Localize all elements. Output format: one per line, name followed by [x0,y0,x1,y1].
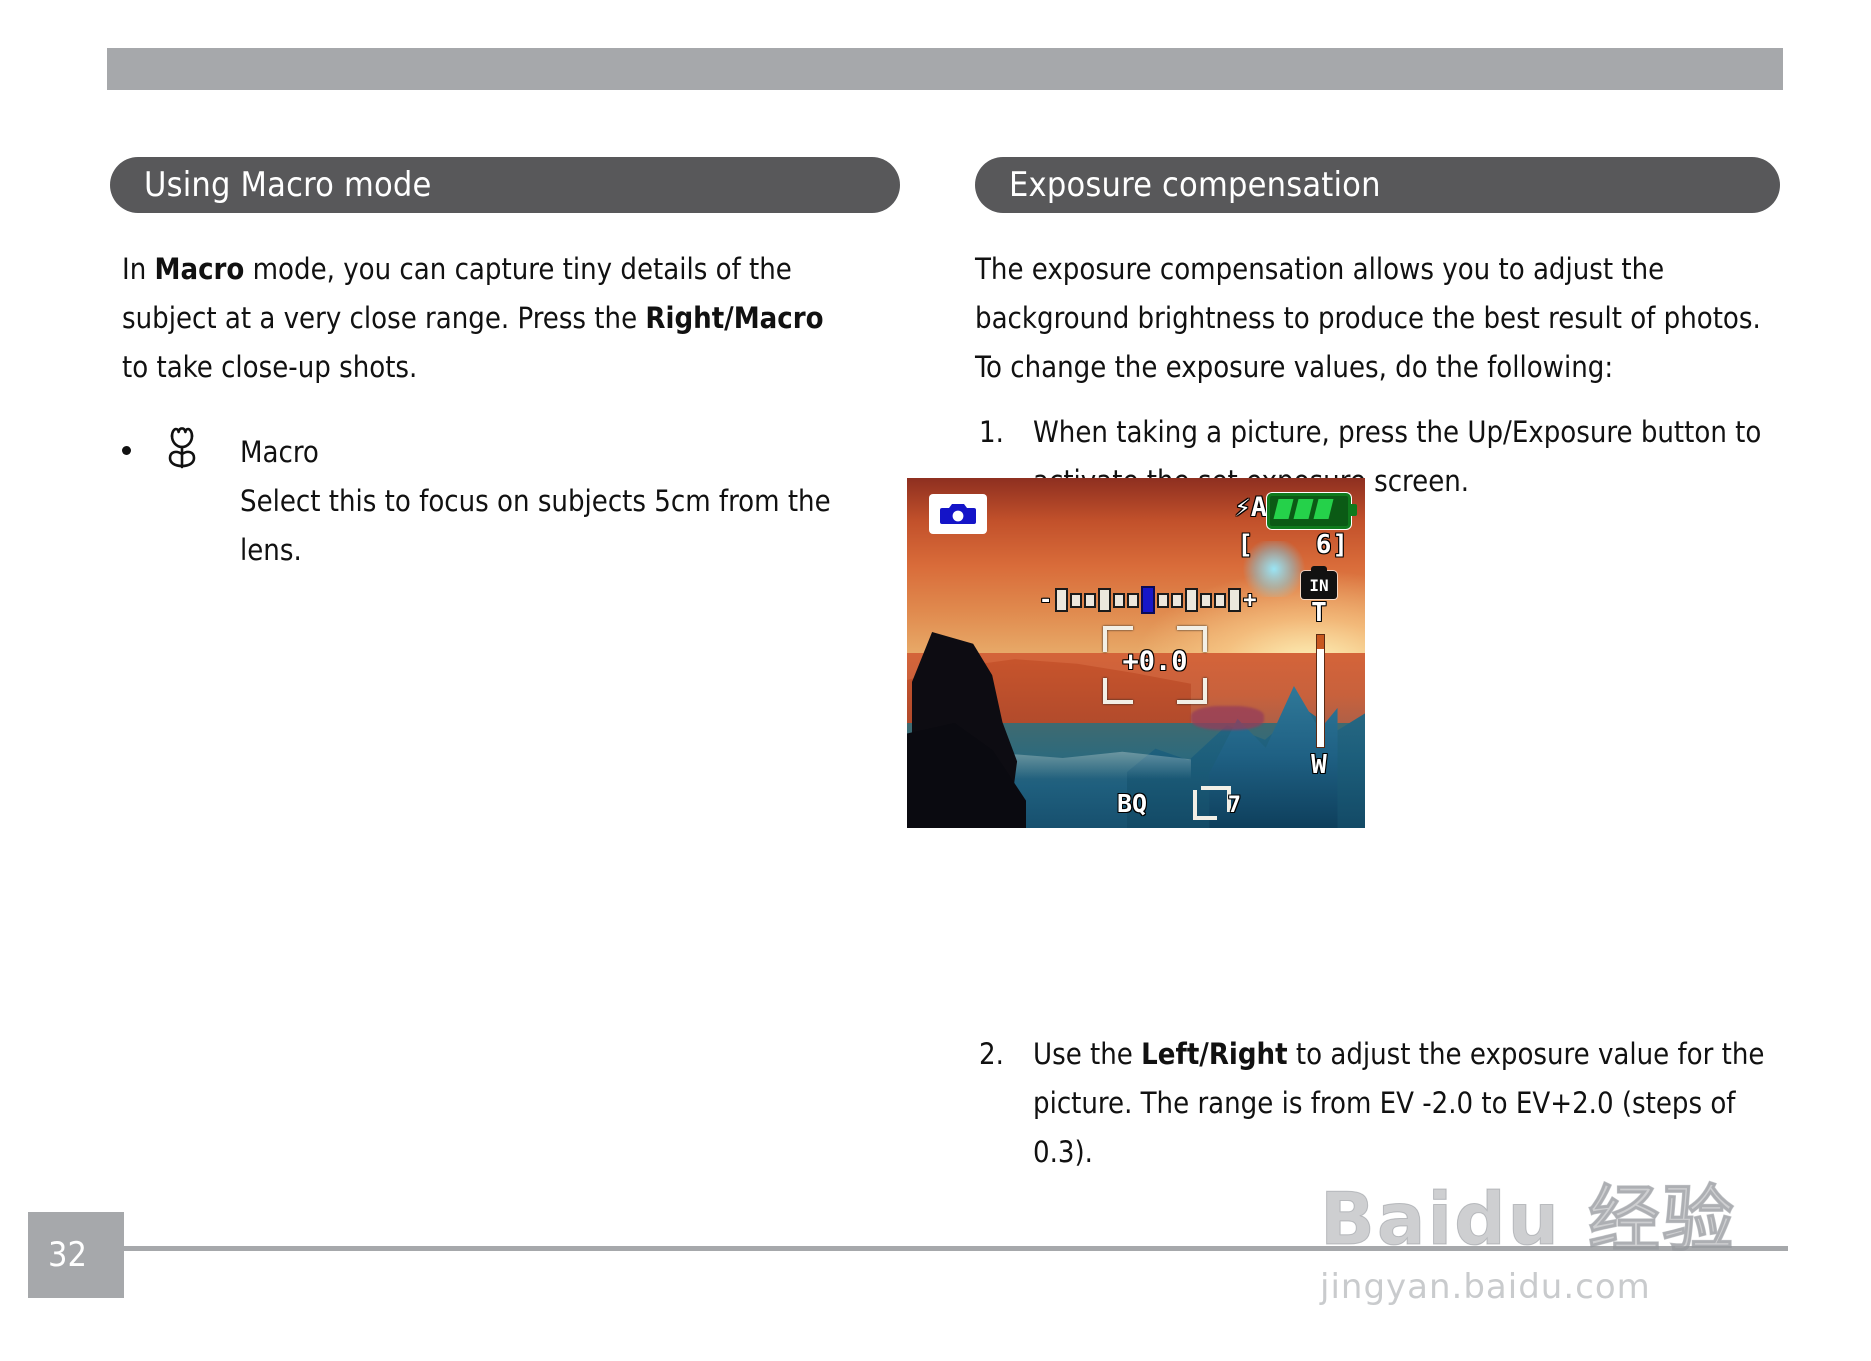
section-heading-macro-label: Using Macro mode [110,165,432,205]
ev-tick-current [1141,586,1155,614]
macro-bullet-label: Macro [240,428,842,477]
ev-tick [1214,593,1226,608]
ev-tick [1098,588,1111,612]
exposure-value-readout: +0.0 [1103,646,1207,677]
macro-intro-bold2: Right/Macro [645,301,823,335]
ev-tick [1084,593,1096,608]
ev-tick [1127,593,1139,608]
section-heading-exposure-label: Exposure compensation [975,165,1381,205]
exposure-steps-list-2: 2. Use the Left/Right to adjust the expo… [975,1030,1780,1177]
macro-bullet-item: Macro Select this to focus on subjects 5… [122,428,842,575]
camera-mode-icon [929,494,987,534]
zoom-bar [1316,634,1325,748]
header-band [107,48,1783,90]
watermark-sub-text: jingyan.baidu.com [1320,1267,1840,1307]
bullet-dot [122,446,131,455]
flash-auto-icon: ⚡A [1234,492,1267,523]
section-heading-exposure: Exposure compensation [975,157,1780,213]
step-2-bold: Left/Right [1141,1037,1287,1071]
zoom-tele-label: T [1299,598,1339,628]
macro-intro-part1: In [122,252,155,286]
ev-tick [1157,593,1169,608]
ev-tick [1113,593,1125,608]
zoom-slider-indicator: T W [1299,604,1339,772]
footer-rule [28,1246,1788,1251]
ev-tick [1228,588,1241,612]
resolution-icon: 7 [1193,786,1239,820]
exposure-scale-minus: - [1039,588,1052,613]
battery-full-icon [1267,493,1351,529]
zoom-wide-label: W [1299,750,1339,780]
macro-bullet-description: Select this to focus on subjects 5cm fro… [240,477,842,575]
ev-tick [1070,593,1082,608]
ev-tick [1185,588,1198,612]
step-2-number: 2. [979,1030,1004,1079]
macro-intro-bold1: Macro [155,252,245,286]
exposure-step-2: 2. Use the Left/Right to adjust the expo… [975,1030,1780,1177]
manual-page: Using Macro mode Exposure compensation I… [0,0,1871,1361]
macro-tulip-icon [154,420,210,476]
right-column-continued: 2. Use the Left/Right to adjust the expo… [975,1020,1780,1191]
internal-memory-icon: IN [1301,571,1337,599]
step-1-number: 1. [979,408,1004,457]
left-column: In Macro mode, you can capture tiny deta… [122,245,842,575]
shots-bracket-left: [ [1237,530,1253,560]
macro-intro-part3: to take close-up shots. [122,350,417,384]
macro-intro-paragraph: In Macro mode, you can capture tiny deta… [122,245,842,392]
exposure-intro-paragraph: The exposure compensation allows you to … [975,245,1780,392]
ev-tick [1200,593,1212,608]
resolution-label: 7 [1228,793,1241,818]
page-number: 32 [28,1212,124,1298]
step-2-pre: Use the [1033,1037,1141,1071]
camera-lcd-screenshot: ⚡A [ 6] IN T W - [907,478,1365,828]
exposure-scale-plus: + [1243,588,1256,613]
section-heading-macro: Using Macro mode [110,157,900,213]
lcd-osd-overlay: ⚡A [ 6] IN T W - [907,478,1365,828]
internal-memory-label: IN [1309,576,1328,595]
exposure-scale: - + [1039,586,1258,614]
image-quality-icon: BQ [1117,789,1147,818]
ev-tick [1171,593,1183,608]
shots-remaining-count: 6] [1316,530,1349,560]
ev-tick [1055,588,1068,612]
